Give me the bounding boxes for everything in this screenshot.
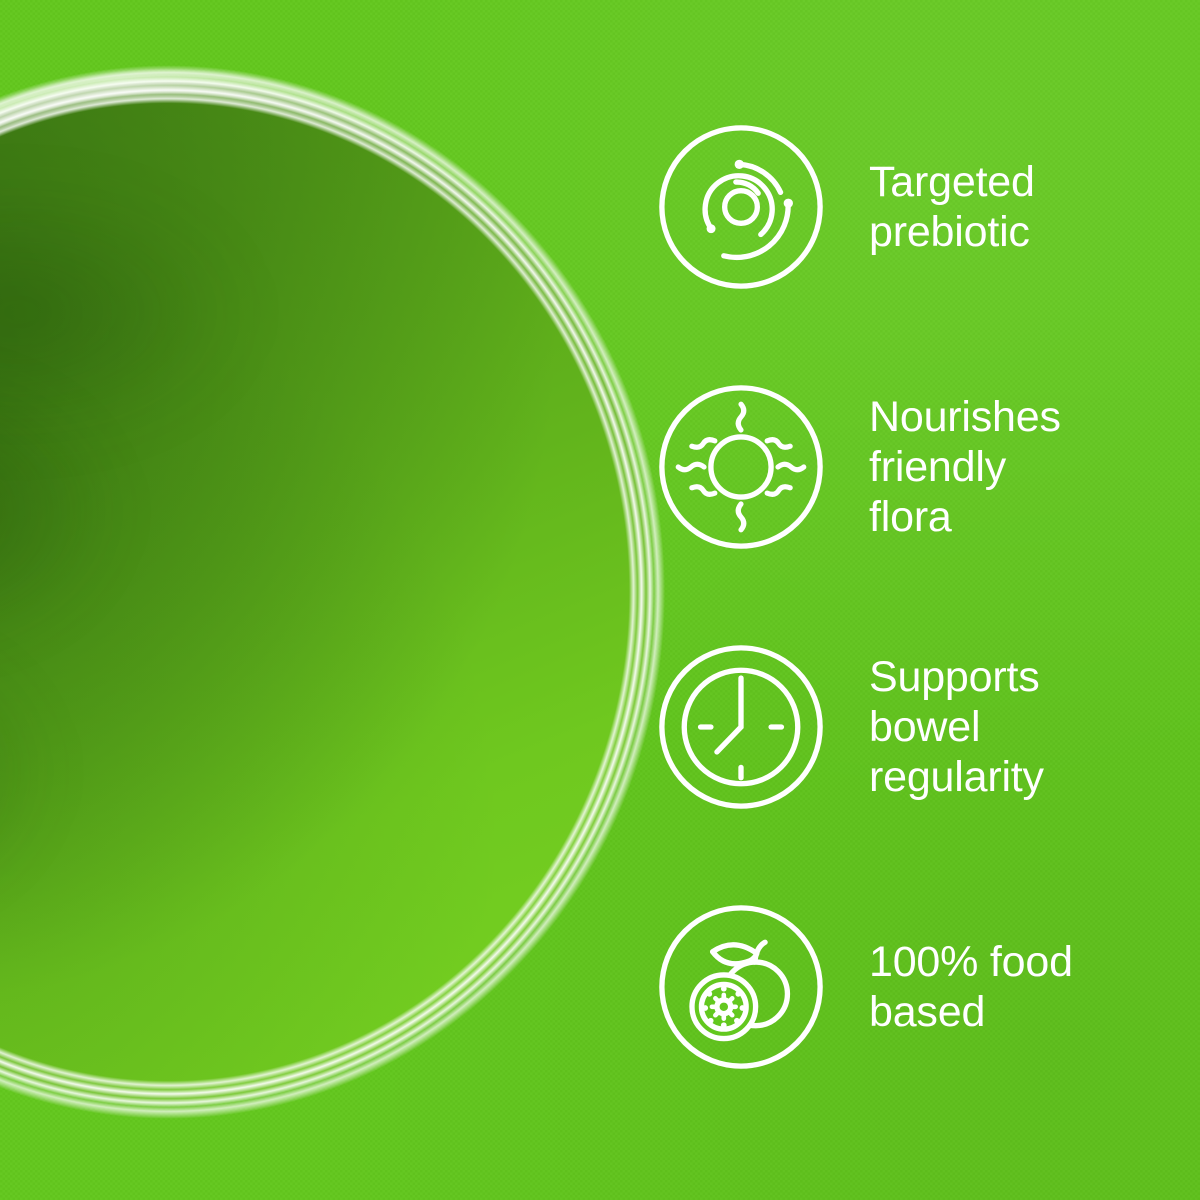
petri-dish-image — [0, 62, 668, 1122]
benefit-item-supports-bowel-regularity: Supports bowel regularity — [655, 632, 1175, 822]
benefit-label-targeted-prebiotic: Targeted prebiotic — [869, 157, 1035, 257]
benefit-label-supports-bowel-regularity: Supports bowel regularity — [869, 652, 1044, 802]
clock-icon — [655, 641, 827, 813]
kiwi-fruit-icon — [655, 901, 827, 1073]
benefit-label-100-percent-food-based: 100% food based — [869, 937, 1073, 1037]
targeted-orbit-icon — [655, 121, 827, 293]
dish-rim-specular-highlight — [0, 62, 668, 1122]
benefit-item-targeted-prebiotic: Targeted prebiotic — [655, 112, 1175, 302]
microbe-sun-flora-icon — [655, 381, 827, 553]
benefit-label-nourishes-friendly-flora: Nourishes friendly flora — [869, 392, 1061, 542]
product-benefits-graphic: Targeted prebiotic — [0, 0, 1200, 1200]
benefit-item-100-percent-food-based: 100% food based — [655, 892, 1175, 1082]
benefits-list: Targeted prebiotic — [655, 112, 1175, 1112]
benefit-item-nourishes-friendly-flora: Nourishes friendly flora — [655, 372, 1175, 562]
